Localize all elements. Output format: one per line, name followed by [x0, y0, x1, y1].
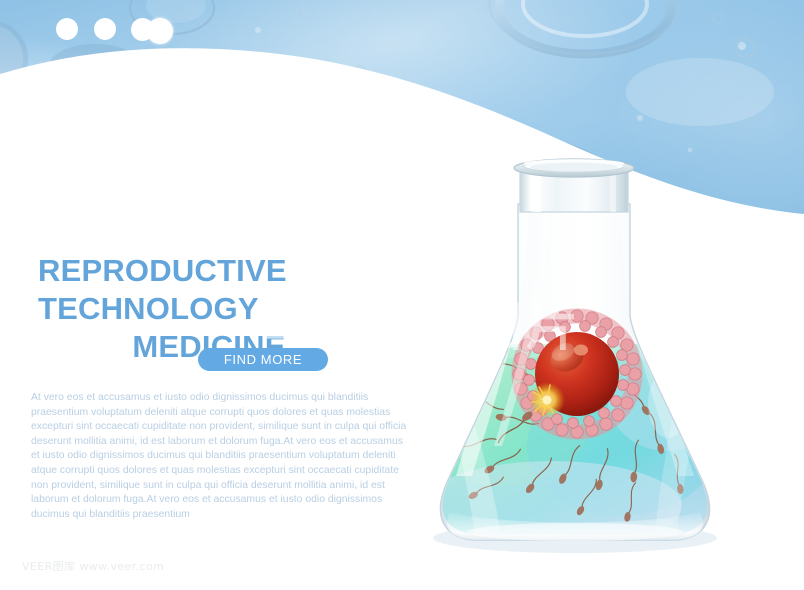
page-title-line-1: REPRODUCTIVE TECHNOLOGY [38, 252, 498, 328]
watermark-footer: VEER图库 www.veer.com [22, 558, 164, 574]
header-dot-1 [56, 18, 78, 40]
header-dot-2 [94, 18, 116, 40]
header-dot-4 [147, 18, 173, 44]
banner-canvas: REPRODUCTIVE TECHNOLOGY MEDICINE FIND MO… [0, 0, 804, 590]
find-more-button[interactable]: FIND MORE [198, 348, 328, 371]
body-paragraph: At vero eos et accusamus et iusto odio d… [31, 391, 411, 522]
